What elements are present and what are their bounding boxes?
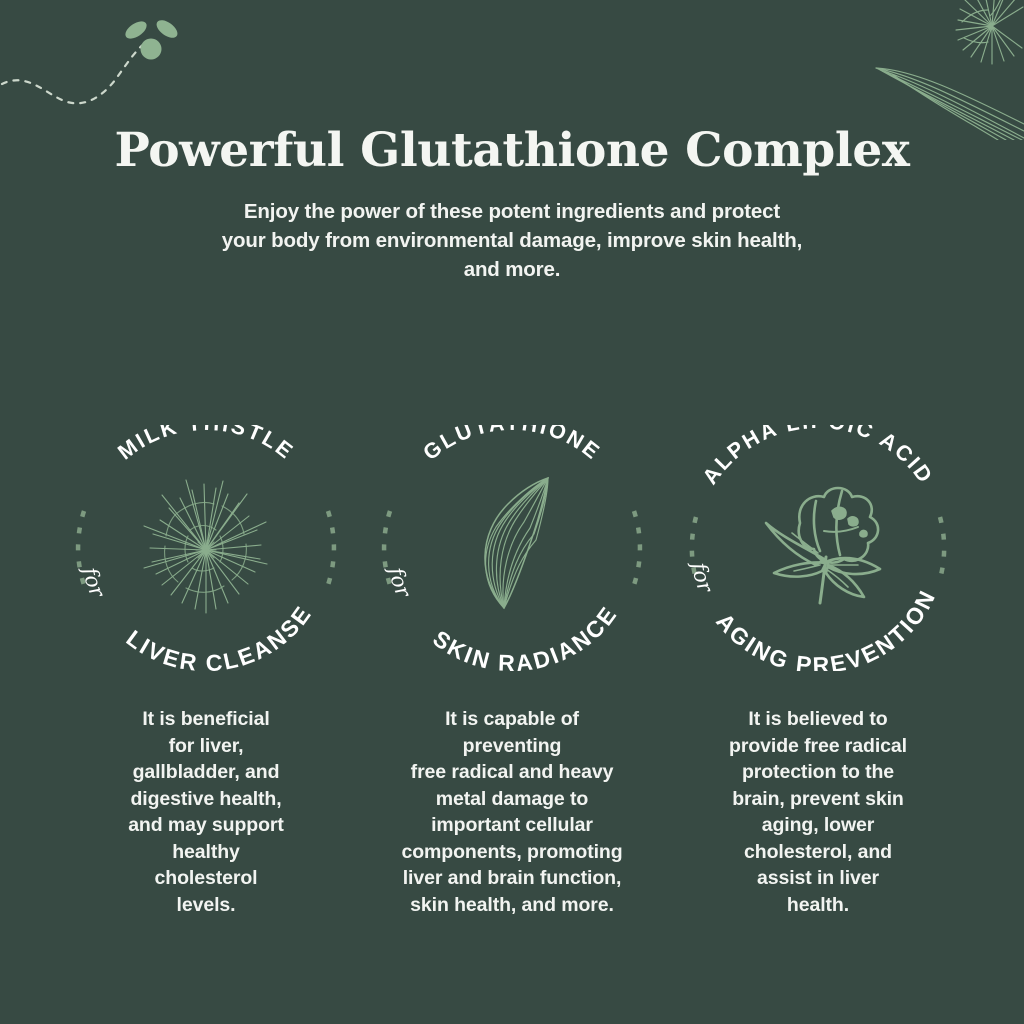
badge-milk-thistle: MILK THISTLE for LIVER CLEANSE: [53, 425, 359, 671]
desc-line: metal damage to: [367, 786, 657, 813]
desc-line: liver and brain function,: [367, 865, 657, 892]
desc-line: health.: [673, 892, 963, 919]
subtitle-line: your body from environmental damage, imp…: [162, 226, 862, 255]
desc-line: important cellular: [367, 812, 657, 839]
badge-glutathione: GLUTATHIONE for SKIN RADIANCE: [359, 425, 665, 671]
desc-line: free radical and heavy: [367, 759, 657, 786]
desc-line: It is believed to: [673, 706, 963, 733]
subtitle-line: Enjoy the power of these potent ingredie…: [162, 197, 862, 226]
subtitle-line: and more.: [162, 255, 862, 284]
badges-row: MILK THISTLE for LIVER CLEANSE: [0, 425, 1024, 671]
header: Powerful Glutathione Complex Enjoy the p…: [0, 126, 1024, 285]
desc-line: levels.: [61, 892, 351, 919]
desc-line: digestive health,: [61, 786, 351, 813]
desc-line: It is beneficial: [61, 706, 351, 733]
desc-line: skin health, and more.: [367, 892, 657, 919]
thistle-flower-icon: [53, 425, 359, 671]
desc-line: healthy: [61, 839, 351, 866]
desc-line: cholesterol: [61, 865, 351, 892]
milk-thistle-description: It is beneficial for liver, gallbladder,…: [53, 706, 359, 918]
desc-line: components, promoting: [367, 839, 657, 866]
sprout-seed-with-dashed-trail-icon: [0, 0, 230, 125]
subtitle: Enjoy the power of these potent ingredie…: [162, 197, 862, 285]
desc-line: assist in liver: [673, 865, 963, 892]
desc-line: gallbladder, and: [61, 759, 351, 786]
page-title: Powerful Glutathione Complex: [0, 126, 1024, 177]
desc-line: brain, prevent skin: [673, 786, 963, 813]
leaf-icon: [359, 425, 665, 671]
alpha-lipoic-acid-description: It is believed to provide free radical p…: [665, 706, 971, 918]
desc-line: for liver,: [61, 733, 351, 760]
descriptions-row: It is beneficial for liver, gallbladder,…: [0, 706, 1024, 918]
infographic-canvas: Powerful Glutathione Complex Enjoy the p…: [0, 0, 1024, 1024]
desc-line: provide free radical: [673, 733, 963, 760]
desc-line: preventing: [367, 733, 657, 760]
glutathione-description: It is capable of preventing free radical…: [359, 706, 665, 918]
desc-line: cholesterol, and: [673, 839, 963, 866]
flower-bloom-icon: [665, 425, 971, 671]
desc-line: aging, lower: [673, 812, 963, 839]
badge-alpha-lipoic-acid: ALPHA LIPOIC ACID for AGING PREVENTION: [665, 425, 971, 671]
desc-line: protection to the: [673, 759, 963, 786]
desc-line: and may support: [61, 812, 351, 839]
desc-line: It is capable of: [367, 706, 657, 733]
thistle-flower-and-leaves-icon: [854, 0, 1024, 140]
